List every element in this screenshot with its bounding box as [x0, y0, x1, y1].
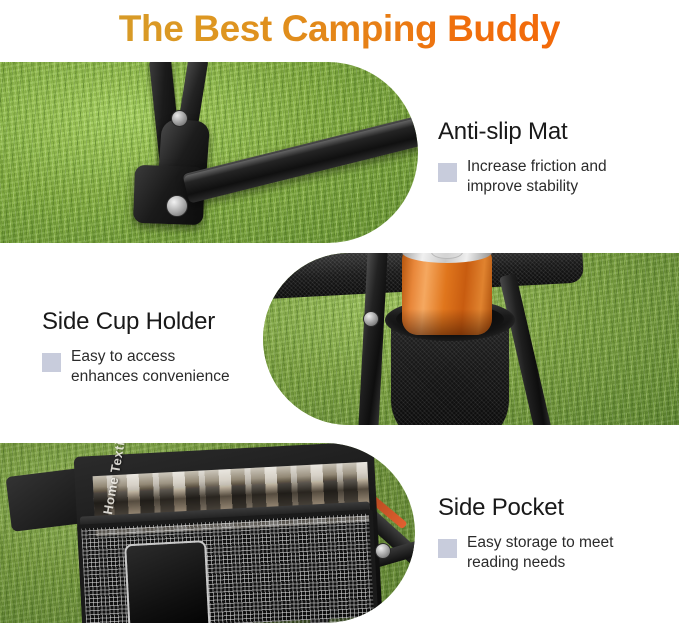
soda-can-shadow: [402, 309, 492, 335]
feature-photo-anti-slip-mat: [0, 62, 418, 243]
soda-can: [402, 253, 492, 335]
feature-description: Easy storage to meet reading needs: [467, 533, 613, 574]
feature-description-row: Easy storage to meet reading needs: [438, 533, 668, 574]
feature-block-side-cup-holder: Side Cup Holder Easy to access enhances …: [42, 308, 292, 388]
side-pocket-mesh: [77, 509, 379, 623]
feature-title: Anti-slip Mat: [438, 118, 668, 146]
bullet-square-icon: [438, 539, 457, 558]
page-title: The Best Camping Buddy: [119, 8, 560, 50]
feature-description: Easy to access enhances convenience: [71, 347, 230, 388]
feature-description: Increase friction and improve stability: [467, 157, 607, 198]
feature-photo-side-pocket: Home Textiles Today: [0, 443, 415, 623]
joint-screw-icon: [171, 110, 188, 127]
header-banner: The Best Camping Buddy: [0, 0, 679, 58]
feature-title: Side Pocket: [438, 494, 668, 522]
foot-screw-icon: [166, 195, 188, 217]
feature-description-row: Easy to access enhances convenience: [42, 347, 292, 388]
bullet-square-icon: [42, 353, 61, 372]
phone-in-pocket: [124, 540, 211, 623]
feature-photo-side-cup-holder: [263, 253, 679, 425]
feature-block-side-pocket: Side Pocket Easy storage to meet reading…: [438, 494, 668, 574]
frame-screw-icon: [375, 543, 391, 559]
bullet-square-icon: [438, 163, 457, 182]
feature-block-anti-slip-mat: Anti-slip Mat Increase friction and impr…: [438, 118, 668, 198]
frame-screw-icon: [363, 311, 379, 327]
feature-title: Side Cup Holder: [42, 308, 292, 336]
feature-description-row: Increase friction and improve stability: [438, 157, 668, 198]
